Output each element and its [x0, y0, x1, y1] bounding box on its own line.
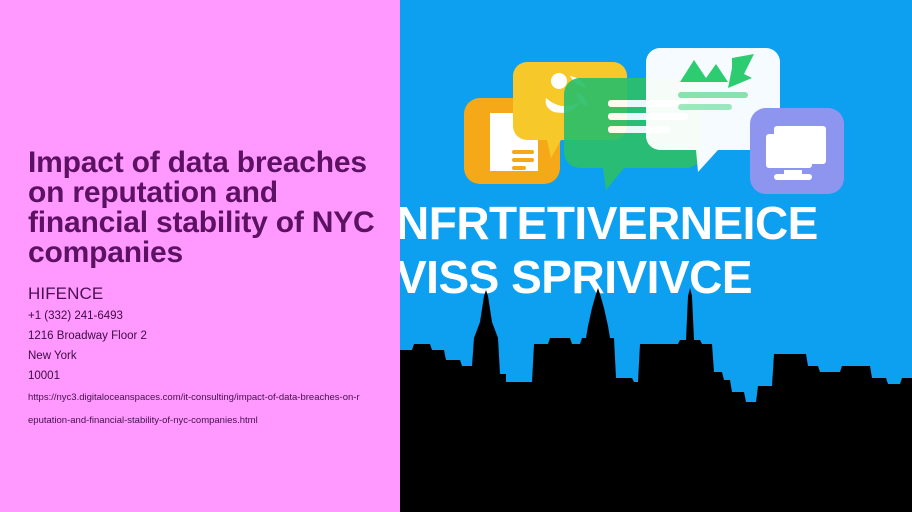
- city-skyline-silhouette: [400, 282, 912, 512]
- article-info-panel: Impact of data breaches on reputation an…: [0, 0, 400, 512]
- poster-root: Impact of data breaches on reputation an…: [0, 0, 912, 512]
- page-title: Impact of data breaches on reputation an…: [28, 148, 392, 268]
- contact-details: +1 (332) 241-6493 1216 Broadway Floor 2 …: [28, 306, 388, 386]
- company-name: HIFENCE: [28, 284, 103, 304]
- contact-phone: +1 (332) 241-6493: [28, 306, 388, 326]
- contact-city: New York: [28, 346, 388, 366]
- monitor-card-icon: [750, 108, 844, 194]
- hero-image-panel: NFRTETIVERNEICE VISS SPRIVIVCE: [400, 0, 912, 512]
- icon-cluster: [400, 0, 912, 200]
- source-url-link[interactable]: https://nyc3.digitaloceanspaces.com/it-c…: [28, 386, 362, 432]
- hero-text-line-1: NFRTETIVERNEICE: [400, 196, 912, 250]
- contact-zip: 10001: [28, 366, 388, 386]
- contact-street: 1216 Broadway Floor 2: [28, 326, 388, 346]
